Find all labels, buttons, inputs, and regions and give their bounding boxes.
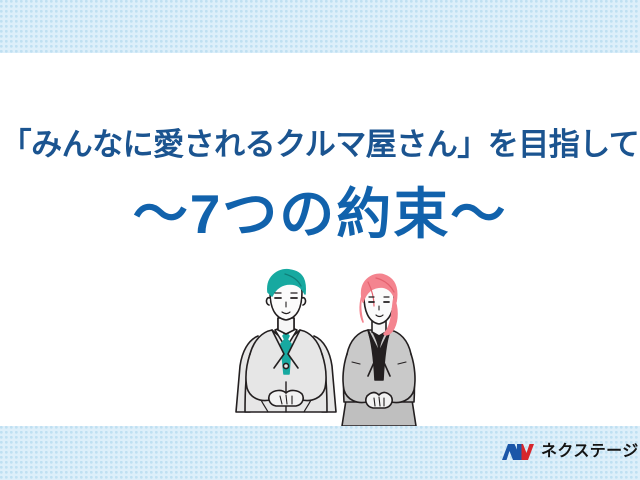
brand-logo: ネクステージ: [501, 437, 627, 467]
nextage-n-mark: [501, 441, 535, 463]
headline-primary: 「みんなに愛されるクルマ屋さん」を目指して: [0, 125, 640, 165]
staff-illustration: [228, 262, 432, 426]
promotional-banner: 「みんなに愛されるクルマ屋さん」を目指して 〜7つの約束〜: [0, 0, 640, 480]
logo-wordmark: ネクステージ: [541, 441, 639, 463]
female-staff-figure: [342, 274, 416, 426]
male-staff-figure: [236, 270, 336, 412]
top-dotted-band: [0, 0, 640, 53]
headline-secondary: 〜7つの約束〜: [0, 181, 640, 247]
